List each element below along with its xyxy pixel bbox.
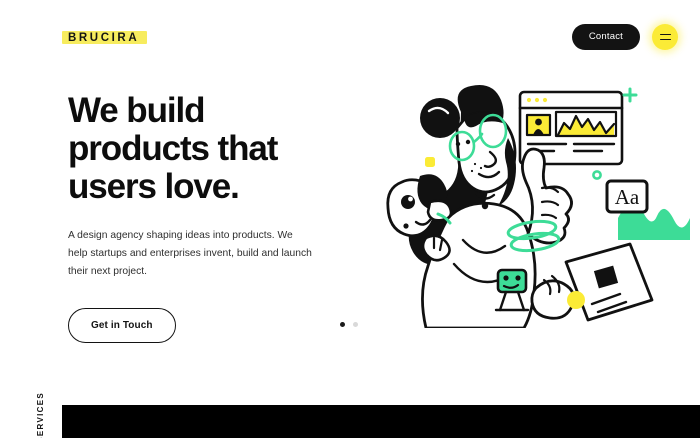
- landing-page: BRUCIRA Contact We build products that u…: [0, 0, 700, 438]
- hamburger-menu-icon[interactable]: [652, 24, 678, 50]
- services-section-label: SERVICES: [36, 392, 45, 438]
- logo-text: BRUCIRA: [68, 32, 139, 44]
- hamburger-line-top: [660, 34, 671, 36]
- site-header: BRUCIRA Contact: [0, 0, 700, 74]
- services-section-band: [62, 405, 700, 438]
- get-in-touch-button[interactable]: Get in Touch: [68, 308, 176, 343]
- brand-logo[interactable]: BRUCIRA: [68, 28, 139, 46]
- necklace: [482, 203, 488, 209]
- hero-paragraph: A design agency shaping ideas into produ…: [68, 227, 313, 280]
- document-icon: [566, 244, 652, 320]
- hero-content: We build products that users love. A des…: [68, 92, 330, 343]
- typography-card: Aa: [607, 181, 647, 212]
- yellow-dot-accent: [567, 291, 585, 309]
- headline-line-1: We build: [68, 92, 330, 130]
- hair-bun: [420, 98, 460, 138]
- hero-illustration: Aa: [330, 78, 700, 328]
- headline-line-2: products that: [68, 130, 330, 168]
- page-title: We build products that users love.: [68, 92, 330, 205]
- hamburger-line-bottom: [660, 39, 671, 41]
- header-actions: Contact: [572, 24, 678, 50]
- contact-button[interactable]: Contact: [572, 24, 640, 50]
- circle-outline-icon: [593, 171, 600, 178]
- headline-line-3: users love.: [68, 168, 330, 206]
- svg-text:Aa: Aa: [615, 185, 640, 209]
- plus-icon: [624, 89, 636, 101]
- yellow-square-accent: [426, 158, 434, 166]
